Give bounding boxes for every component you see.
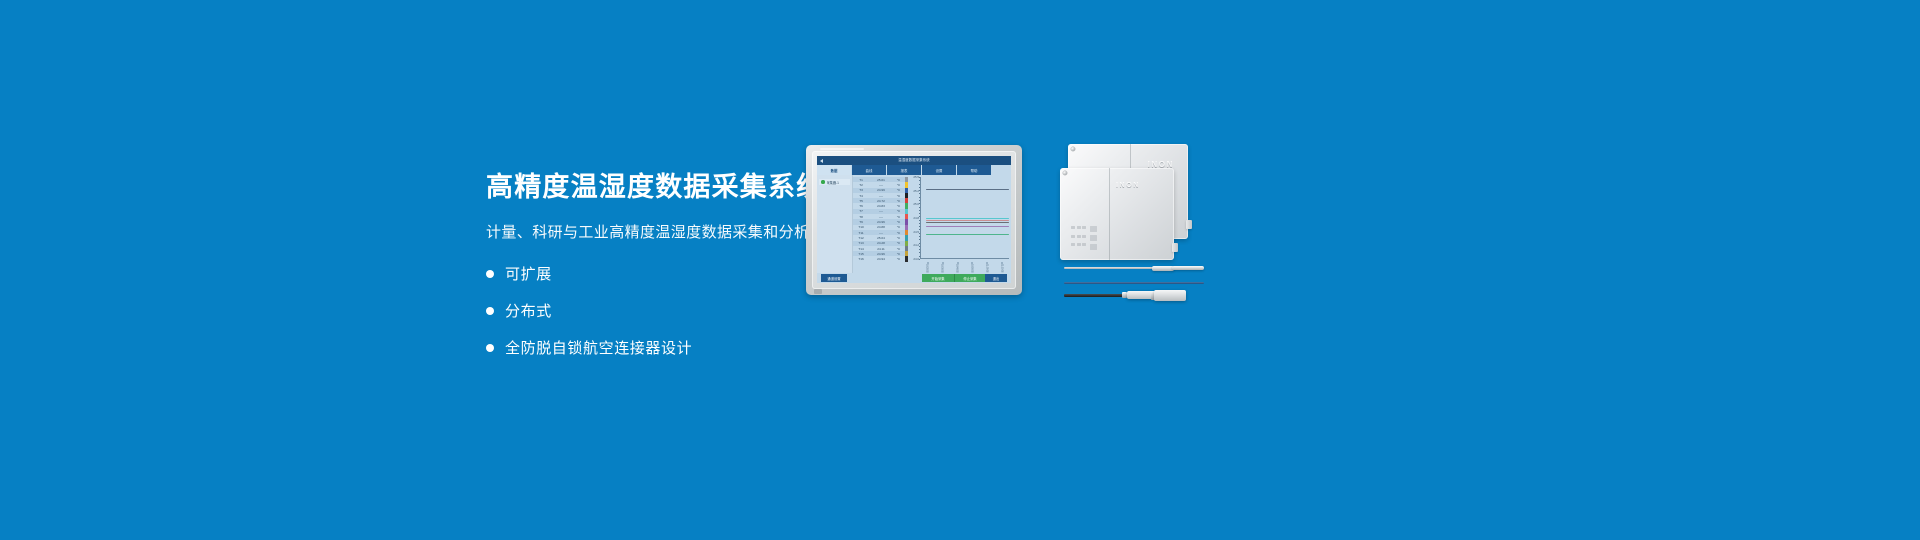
chart-plot-area [920, 177, 1009, 259]
exit-button[interactable]: 退出 [985, 274, 1007, 282]
value-cell: 24.96 [869, 220, 893, 224]
unit-cell: °C [893, 257, 904, 261]
screw-icon [1071, 147, 1075, 151]
feature-label: 分布式 [505, 304, 552, 319]
channel-cell: T10 [853, 225, 869, 229]
trend-chart: 25.525.225.024.824.524.224.0 10:20:0210:… [908, 175, 1011, 273]
acquisition-module-front: INON [1060, 168, 1174, 260]
unit-cell: °C [893, 209, 904, 213]
value-cell: ---- [869, 231, 893, 235]
chart-x-axis: 10:20:0210:30:0210:40:0210:50:0211:00:02… [920, 259, 1009, 273]
brand-logo: INON [1116, 182, 1140, 189]
table-row[interactable]: T11----°C [853, 230, 905, 235]
table-row[interactable]: T7----°C [853, 209, 905, 214]
channel-cell: T5 [853, 199, 869, 203]
channel-table[interactable]: T125.01°CT2----°CT324.99°CT4----°CT524.7… [853, 175, 905, 273]
terminal-block-graphic [1071, 226, 1097, 250]
x-tick-label: 10:50:02 [970, 264, 973, 273]
chart-y-axis: 25.525.225.024.824.524.224.0 [908, 177, 920, 259]
value-cell: ---- [869, 209, 893, 213]
table-row[interactable]: T624.83°C [853, 203, 905, 208]
bullet-dot-icon [486, 270, 494, 278]
channel-cell: T16 [853, 257, 869, 261]
probe-cable [1064, 267, 1156, 269]
channel-cell: T3 [853, 188, 869, 192]
value-cell: 24.72 [869, 199, 893, 203]
x-tick-label: 10:40:02 [956, 264, 959, 273]
table-row[interactable]: T1324.28°C [853, 241, 905, 246]
table-row[interactable]: T125.01°C [853, 177, 905, 182]
value-cell: 24.11 [869, 247, 893, 251]
monitor-vent [820, 148, 864, 150]
probe-stem [1172, 266, 1204, 270]
aviation-connector-body [1127, 291, 1153, 299]
channel-cell: T12 [853, 236, 869, 240]
device-list: 采集器-1 [817, 175, 853, 273]
value-cell: 25.01 [869, 178, 893, 182]
channel-cell: T8 [853, 215, 869, 219]
x-tick-label: 11:10:02 [1000, 264, 1003, 272]
chart-series-line [926, 234, 1009, 235]
channel-cell: T13 [853, 241, 869, 245]
value-cell: ---- [869, 215, 893, 219]
channel-cell: T4 [853, 194, 869, 198]
tab-data[interactable]: 数据 [817, 165, 852, 175]
monitor-foot [814, 289, 822, 294]
chart-series-line [926, 226, 1009, 227]
monitor-screen: 温湿度数据采集系统 数据 曲线 报表 设置 帮助 [817, 156, 1011, 283]
connector-port [1172, 243, 1178, 252]
table-row[interactable]: T8----°C [853, 214, 905, 219]
list-item: 分布式 [486, 304, 956, 319]
sensor-housing [1154, 290, 1186, 301]
online-led-icon [821, 180, 825, 184]
unit-cell: °C [893, 199, 904, 203]
x-tick-label: 11:00:02 [985, 264, 988, 272]
table-row[interactable]: T2----°C [853, 182, 905, 187]
aviation-connector-probe [1064, 290, 1204, 302]
unit-cell: °C [893, 236, 904, 240]
app-title: 温湿度数据采集系统 [817, 156, 1011, 165]
channel-cell: T2 [853, 183, 869, 187]
channel-cell: T1 [853, 178, 869, 182]
channel-cell: T7 [853, 209, 869, 213]
value-cell: 24.88 [869, 225, 893, 229]
monitor-bezel-outer: 温湿度数据采集系统 数据 曲线 报表 设置 帮助 [806, 145, 1022, 295]
table-row[interactable]: T1524.96°C [853, 251, 905, 256]
chart-series-line [926, 220, 1009, 221]
unit-cell: °C [893, 241, 904, 245]
temperature-probe-grey [1064, 264, 1204, 272]
unit-cell: °C [893, 252, 904, 256]
tab-curve[interactable]: 曲线 [852, 165, 887, 175]
unit-cell: °C [893, 178, 904, 182]
value-cell: 24.94 [869, 257, 893, 261]
probe-cable [1064, 282, 1204, 284]
unit-cell: °C [893, 247, 904, 251]
value-cell: 25.04 [869, 236, 893, 240]
app-bottombar: 通道设置 开始采集 停止采集 退出 [817, 273, 1011, 283]
terminal-grid [1071, 226, 1086, 250]
unit-cell: °C [893, 204, 904, 208]
panel-seam [1109, 168, 1110, 260]
bottombar-spacer [847, 273, 922, 283]
unit-cell: °C [893, 215, 904, 219]
app-titlebar: 温湿度数据采集系统 [817, 156, 1011, 165]
unit-cell: °C [893, 225, 904, 229]
monitor-device: 温湿度数据采集系统 数据 曲线 报表 设置 帮助 [806, 145, 1022, 295]
table-row[interactable]: T1024.88°C [853, 225, 905, 230]
app-tabbar: 数据 曲线 报表 设置 帮助 [817, 165, 1011, 175]
value-cell: ---- [869, 194, 893, 198]
value-cell: 24.99 [869, 188, 893, 192]
table-row[interactable]: T1624.94°C [853, 256, 905, 261]
channel-cell: T6 [853, 204, 869, 208]
feature-label: 可扩展 [505, 267, 552, 282]
tab-settings[interactable]: 设置 [922, 165, 957, 175]
tab-help[interactable]: 帮助 [957, 165, 992, 175]
feature-label: 全防脱自锁航空连接器设计 [505, 341, 692, 356]
probe-cable [1064, 294, 1126, 297]
unit-cell: °C [893, 231, 904, 235]
chart-series-line [926, 218, 1009, 219]
table-row[interactable]: T1424.11°C [853, 246, 905, 251]
table-row[interactable]: T324.99°C [853, 188, 905, 193]
table-row[interactable]: T924.96°C [853, 219, 905, 224]
unit-cell: °C [893, 183, 904, 187]
chart-series-line [926, 222, 1009, 223]
connector-port [1186, 220, 1192, 229]
terminal-column [1090, 226, 1097, 250]
value-cell: 24.96 [869, 252, 893, 256]
back-arrow-icon[interactable] [820, 159, 823, 163]
x-tick-label: 10:20:02 [926, 264, 929, 273]
humidity-probe-blue [1064, 280, 1204, 286]
product-banner: 高精度温湿度数据采集系统 计量、科研与工业高精度温湿度数据采集和分析整体解决方案… [0, 0, 1920, 540]
chart-series-line [926, 189, 1009, 190]
value-cell: ---- [869, 183, 893, 187]
channel-cell: T14 [853, 247, 869, 251]
app-workspace: 采集器-1 T125.01°CT2----°CT324.99°CT4----°C… [817, 175, 1011, 273]
value-cell: 24.83 [869, 204, 893, 208]
table-row[interactable]: T4----°C [853, 193, 905, 198]
unit-cell: °C [893, 188, 904, 192]
channel-cell: T15 [853, 252, 869, 256]
screw-icon [1063, 171, 1067, 175]
value-cell: 24.28 [869, 241, 893, 245]
unit-cell: °C [893, 194, 904, 198]
unit-cell: °C [893, 220, 904, 224]
list-item: 全防脱自锁航空连接器设计 [486, 341, 956, 356]
stop-acquisition-button[interactable]: 停止采集 [954, 274, 985, 282]
bullet-dot-icon [486, 344, 494, 352]
tabbar-filler [992, 165, 1011, 175]
table-row[interactable]: T1225.04°C [853, 235, 905, 240]
table-row[interactable]: T524.72°C [853, 198, 905, 203]
tab-report[interactable]: 报表 [887, 165, 922, 175]
device-name: 采集器-1 [827, 180, 839, 185]
hardware-group: INON INON [1060, 140, 1205, 300]
monitor-bezel-inner: 温湿度数据采集系统 数据 曲线 报表 设置 帮助 [812, 151, 1016, 289]
x-tick-label: 10:30:02 [941, 264, 944, 273]
bullet-dot-icon [486, 307, 494, 315]
probe-tip [1152, 266, 1174, 271]
list-item[interactable]: 采集器-1 [819, 179, 850, 185]
start-acquisition-button[interactable]: 开始采集 [922, 274, 954, 282]
channel-cell: T11 [853, 231, 869, 235]
channel-cell: T9 [853, 220, 869, 224]
channel-settings-button[interactable]: 通道设置 [821, 274, 847, 282]
